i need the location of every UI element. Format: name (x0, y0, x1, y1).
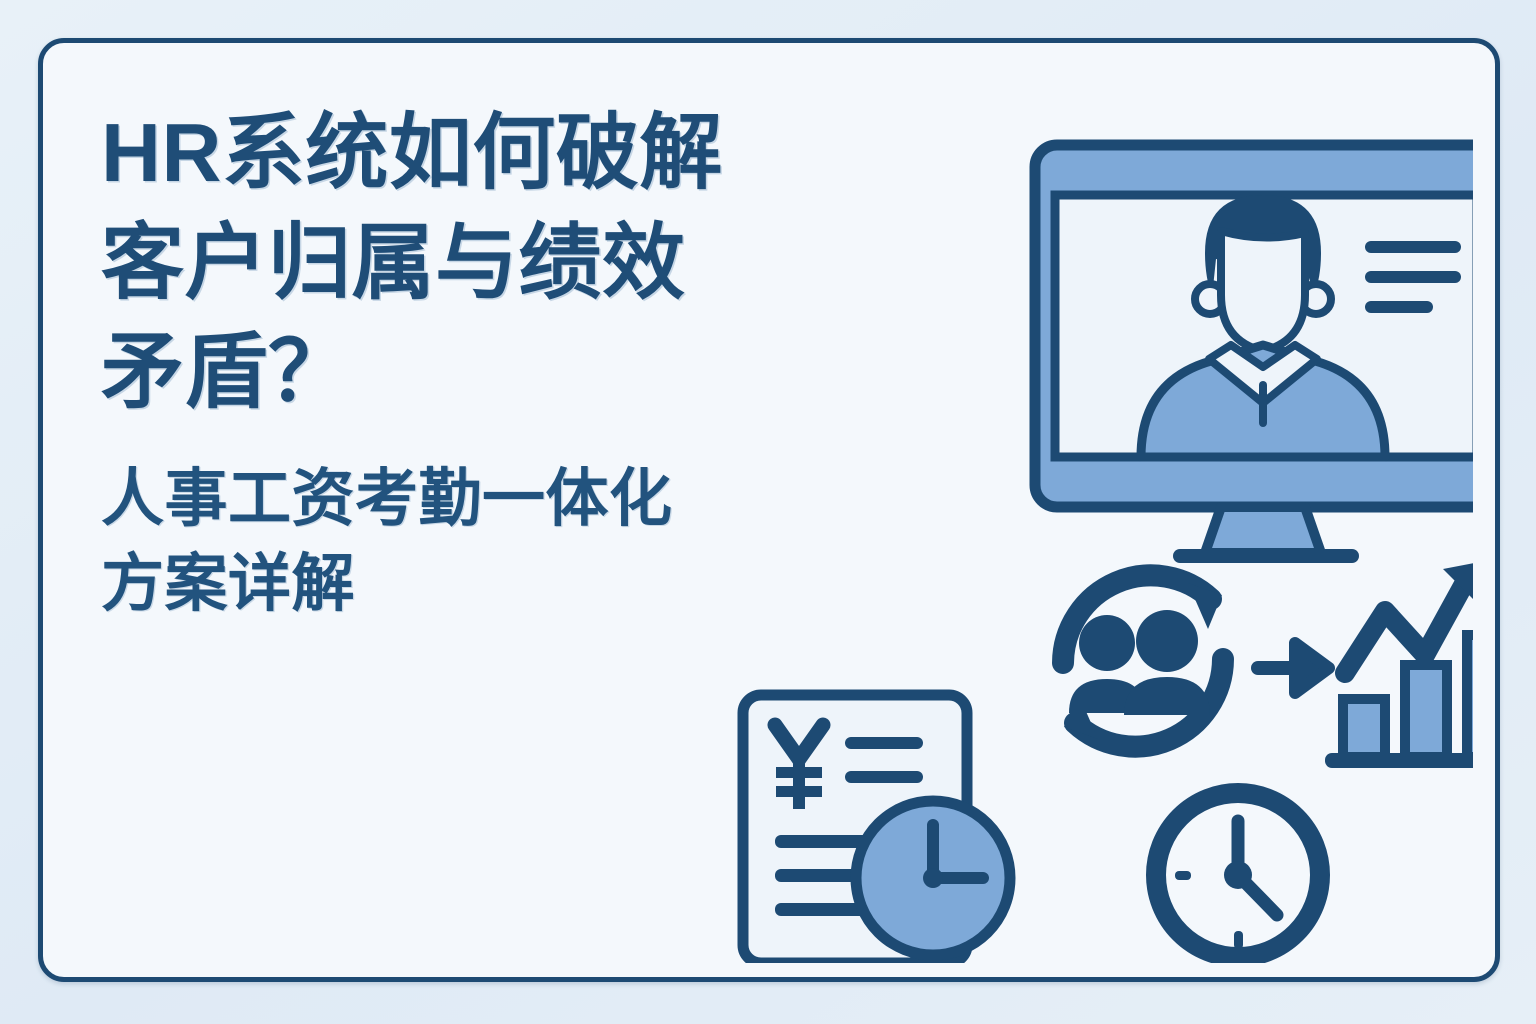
clock-filled-pivot (923, 868, 943, 888)
person-head-left (1079, 615, 1135, 671)
illustration-svg: .dk { fill: #1d4a73; } .lt { fill: #7ea9… (643, 63, 1473, 963)
illustration-group: .dk { fill: #1d4a73; } .lt { fill: #7ea9… (643, 63, 1473, 963)
person-head-right (1136, 610, 1198, 672)
doc-short-line-2 (845, 771, 923, 783)
performance-growth-chart (1325, 561, 1473, 768)
people-rotation-sync (1063, 575, 1223, 746)
monitor-stand (1205, 507, 1321, 553)
right-arrow-icon (1251, 643, 1329, 693)
screen-line-2 (1365, 271, 1461, 283)
arrow-head (1295, 643, 1329, 693)
person-body-right (1124, 677, 1210, 715)
chart-bar-1 (1343, 699, 1385, 757)
clock-tick-9 (1175, 871, 1191, 880)
clock-outline-pivot (1224, 861, 1252, 889)
trend-line (1345, 575, 1469, 673)
chart-bar-2 (1405, 665, 1447, 757)
screen-line-1 (1365, 241, 1461, 253)
yen-stem (793, 763, 805, 809)
clock-tick-6 (1234, 931, 1243, 949)
doc-short-line-1 (845, 737, 923, 749)
poster-canvas: HR系统如何破解 客户归属与绩效 矛盾？ 人事工资考勤一体化 方案详解 .dk … (0, 0, 1536, 1024)
attendance-clock-filled (856, 801, 1010, 955)
chart-bar-3 (1467, 635, 1473, 757)
screen-line-3 (1365, 301, 1433, 313)
avatar-face (1221, 231, 1305, 351)
rounded-border-frame: HR系统如何破解 客户归属与绩效 矛盾？ 人事工资考勤一体化 方案详解 .dk … (38, 38, 1500, 982)
employee-profile-monitor (1035, 145, 1473, 563)
attendance-clock-outline (1156, 793, 1320, 957)
monitor-base (1173, 549, 1359, 563)
chart-baseline (1325, 753, 1473, 768)
